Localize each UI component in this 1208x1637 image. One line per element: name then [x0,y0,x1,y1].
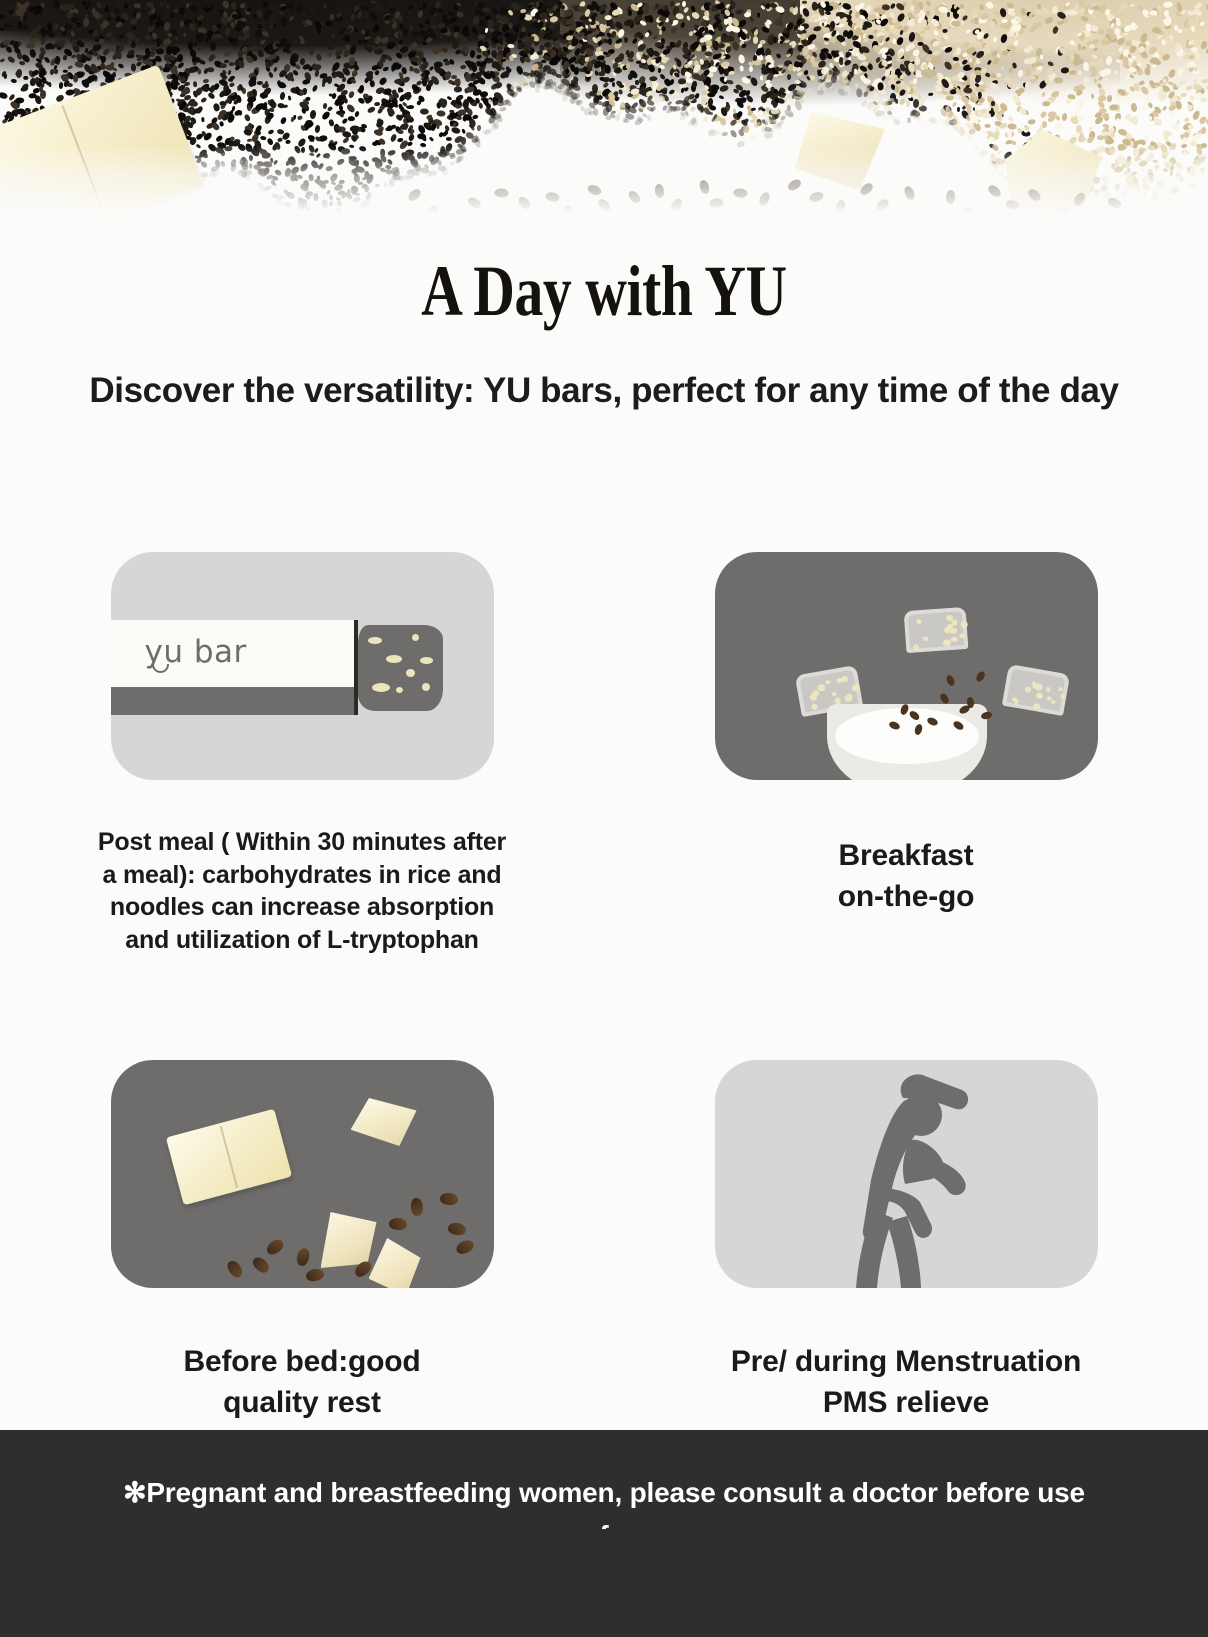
thumb-yu-bar-package: yu bar [111,552,494,780]
bar-nougat-end [358,625,443,711]
white-chocolate-chunk-card-1 [351,1098,417,1146]
hero-bottom-fade [0,145,1208,225]
bar-sleeve-edge [354,620,358,715]
page-subtitle: Discover the versatility: YU bars, perfe… [0,365,1208,417]
mini-bar-piece [903,607,968,653]
yogurt-bowl [827,704,987,780]
usage-card-menstruation[interactable]: Pre/ during Menstruation PMS relieve [604,1060,1208,1424]
footer-disclaimer-text: ✻Pregnant and breastfeeding women, pleas… [0,1430,1208,1515]
mini-bar-piece [1001,664,1069,716]
thumb-stretching-figure [715,1060,1098,1288]
card-caption-before-bed: Before bed:good quality rest [184,1342,421,1424]
chocolate-seed-illustration [111,1060,494,1288]
usage-card-breakfast[interactable]: Breakfast on-the-go [604,552,1208,956]
card-row-bottom: Before bed:good quality rest [0,1060,1208,1424]
bar-sleeve-shadow [111,687,354,715]
white-chocolate-chunk-card-2 [321,1212,377,1268]
page-title: A Day with YU [121,250,1087,333]
yogurt-surface [835,708,979,764]
usage-card-grid: yu bar Post meal ( Within 30 minutes aft… [0,552,1208,1424]
stretching-person-icon [715,1060,1098,1288]
usage-card-before-bed[interactable]: Before bed:good quality rest [0,1060,604,1424]
footer-cut-line: f [0,1515,1208,1529]
card-caption-menstruation: Pre/ during Menstruation PMS relieve [731,1342,1081,1424]
thumb-bars-over-yogurt [715,552,1098,780]
white-chocolate-chunk-card-3 [369,1238,421,1288]
footer-disclaimer-bar: ✻Pregnant and breastfeeding women, pleas… [0,1430,1208,1637]
card-row-top: yu bar Post meal ( Within 30 minutes aft… [0,552,1208,956]
card-caption-post-meal: Post meal ( Within 30 minutes after a me… [88,826,516,956]
thumb-chocolate-and-seeds [111,1060,494,1288]
usage-card-post-meal[interactable]: yu bar Post meal ( Within 30 minutes aft… [0,552,604,956]
yu-bar-illustration: yu bar [111,620,494,715]
white-chocolate-bar-card [165,1109,291,1206]
card-caption-breakfast: Breakfast on-the-go [838,836,974,918]
hero-seed-banner [0,0,1208,225]
